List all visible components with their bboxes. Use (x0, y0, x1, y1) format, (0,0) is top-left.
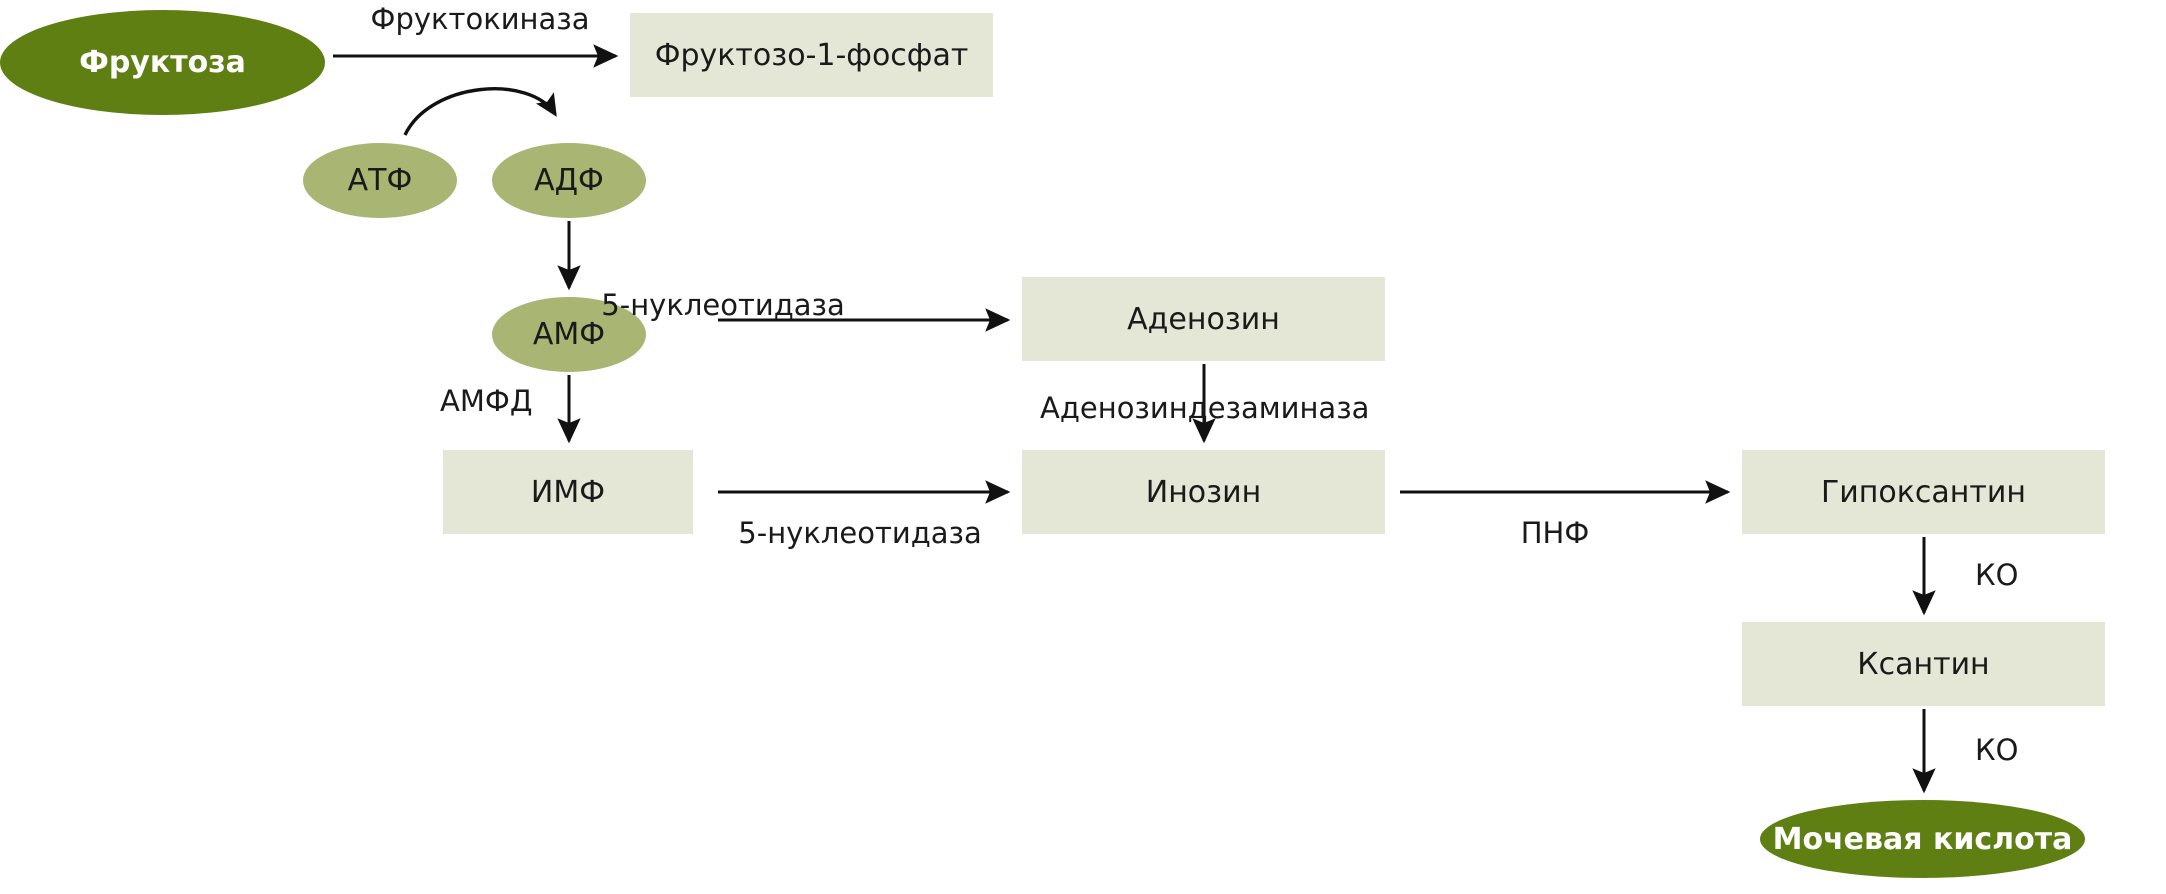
node-fructose-label: Фруктоза (79, 45, 246, 80)
edge-atp-to-adp (405, 89, 555, 135)
node-inosine[interactable]: Инозин (1022, 450, 1385, 534)
node-fructose-1-phosphate-label: Фруктозо-1-фосфат (655, 38, 969, 73)
edge-label-pnp: ПНФ (1521, 519, 1590, 548)
edge-label-xanthine-oxidase-1: КО (1975, 561, 2018, 590)
node-adp-label: АДФ (534, 163, 604, 198)
node-amp-label: АМФ (533, 317, 605, 352)
edge-label-fructokinase: Фруктокиназа (371, 5, 590, 34)
node-atp-label: АТФ (348, 163, 413, 198)
node-fructose-1-phosphate[interactable]: Фруктозо-1-фосфат (630, 13, 993, 97)
node-imp[interactable]: ИМФ (443, 450, 693, 534)
node-inosine-label: Инозин (1146, 475, 1261, 510)
node-xanthine-label: Ксантин (1857, 647, 1989, 682)
node-xanthine[interactable]: Ксантин (1742, 622, 2105, 706)
node-atp[interactable]: АТФ (303, 143, 457, 218)
edge-label-ampd: АМФД (440, 387, 532, 416)
node-hypoxanthine-label: Гипоксантин (1821, 475, 2026, 510)
edge-label-5-nucleotidase-imp: 5-нуклеотидаза (738, 519, 981, 548)
node-hypoxanthine[interactable]: Гипоксантин (1742, 450, 2105, 534)
node-adenosine-label: Аденозин (1127, 302, 1280, 337)
edge-label-5-nucleotidase-amp: 5-нуклеотидаза (601, 291, 844, 320)
edges-layer (0, 0, 2166, 894)
node-adp[interactable]: АДФ (492, 143, 646, 218)
node-uric-acid[interactable]: Мочевая кислота (1760, 800, 2085, 878)
pathway-diagram: Фруктоза Фруктозо-1-фосфат АТФ АДФ АМФ А… (0, 0, 2166, 894)
node-adenosine[interactable]: Аденозин (1022, 277, 1385, 361)
node-fructose[interactable]: Фруктоза (0, 10, 325, 115)
edge-label-xanthine-oxidase-2: КО (1975, 736, 2018, 765)
node-imp-label: ИМФ (531, 475, 605, 510)
edge-label-adenosine-deaminase: Аденозиндезаминаза (1040, 394, 1369, 423)
node-uric-acid-label: Мочевая кислота (1773, 822, 2073, 857)
